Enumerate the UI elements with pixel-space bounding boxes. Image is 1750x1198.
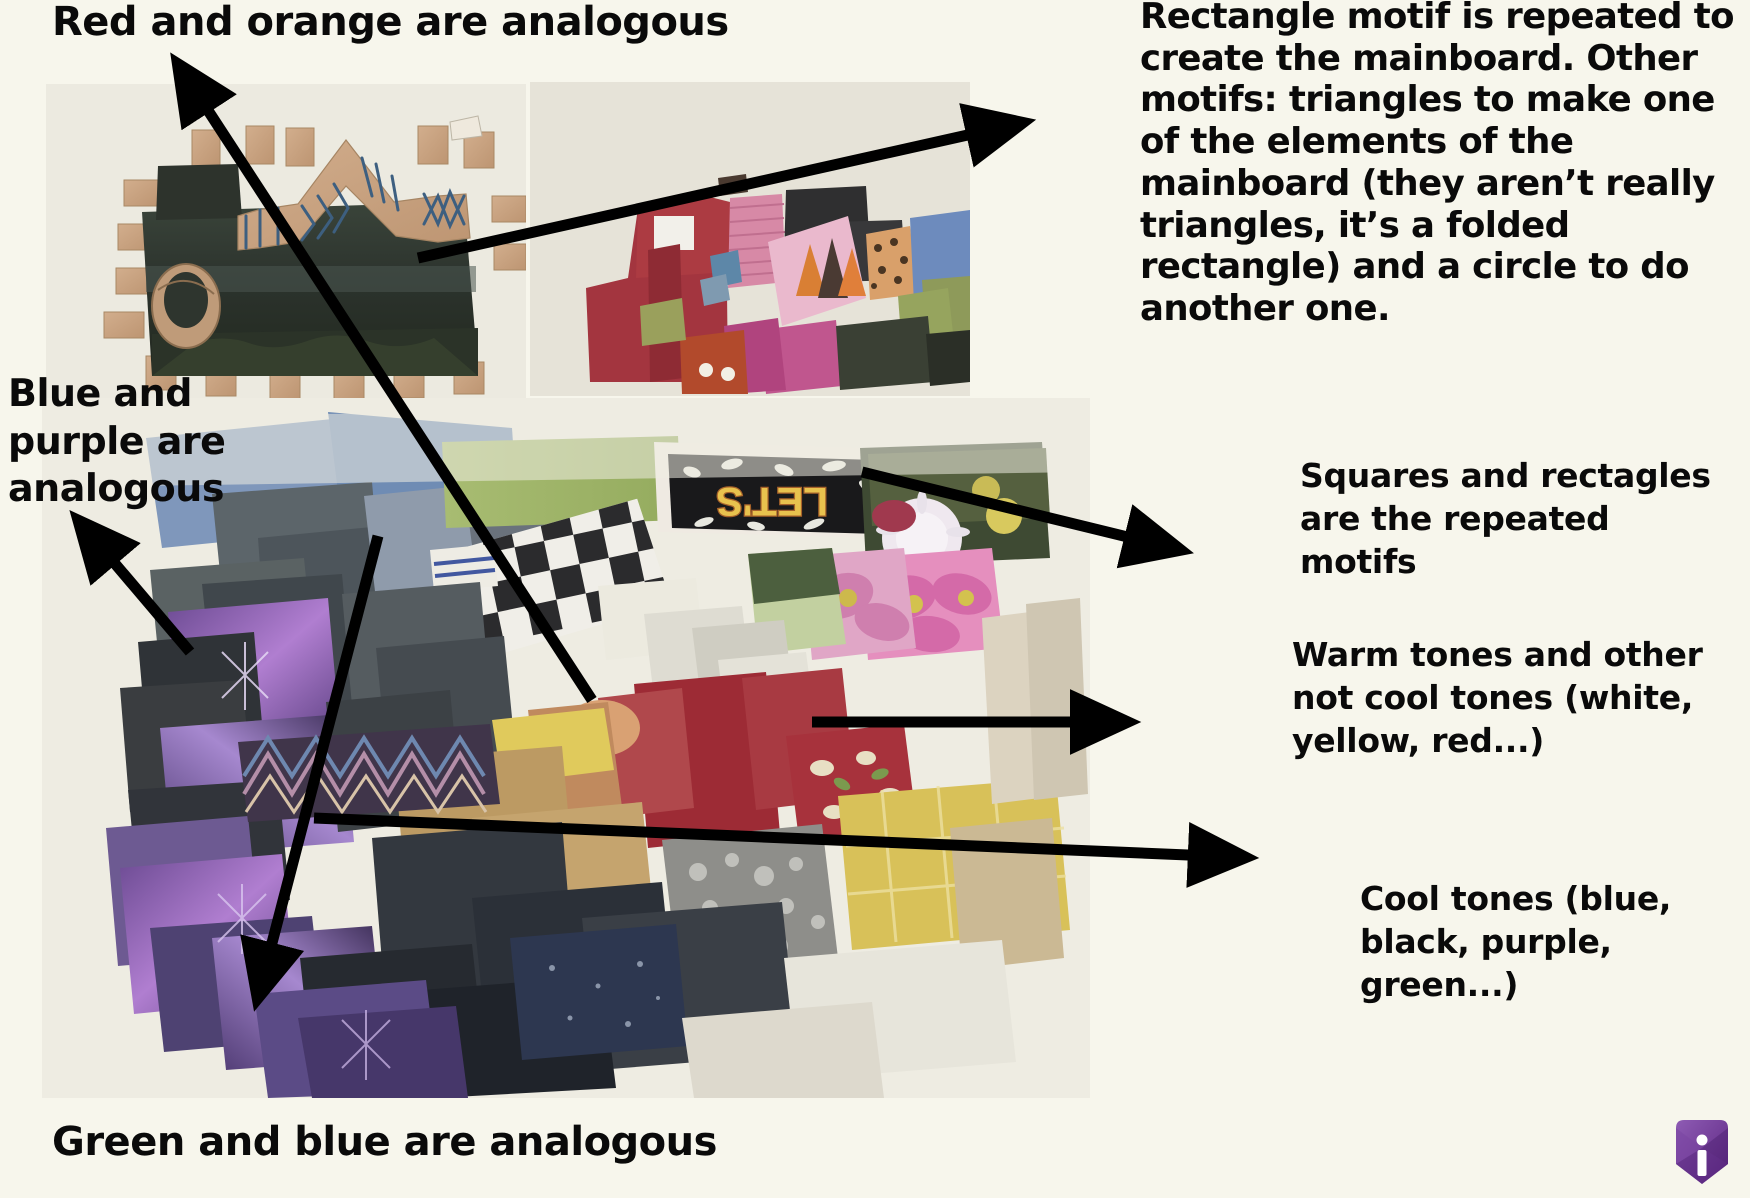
photo-pink-collage — [530, 82, 970, 396]
photo-cardboard-maquette — [46, 84, 526, 400]
annotation-warm-tones: Warm tones and other not cool tones (whi… — [1292, 634, 1742, 763]
slide-canvas: LET'S — [0, 0, 1750, 1198]
annotation-squares-rectangles: Squares and rectagles are the repeated m… — [1300, 455, 1720, 584]
annotation-green-blue: Green and blue are analogous — [52, 1120, 717, 1165]
annotation-red-orange: Red and orange are analogous — [52, 0, 729, 45]
annotation-rectangle-motif: Rectangle motif is repeated to create th… — [1140, 0, 1740, 330]
sway-logo[interactable]: i — [1670, 1118, 1734, 1186]
fabric-text-lets: LET'S — [716, 479, 828, 523]
annotation-cool-tones: Cool tones (blue, black, purple, green..… — [1360, 878, 1720, 1007]
annotation-blue-purple: Blue and purple are analogous — [8, 370, 308, 513]
